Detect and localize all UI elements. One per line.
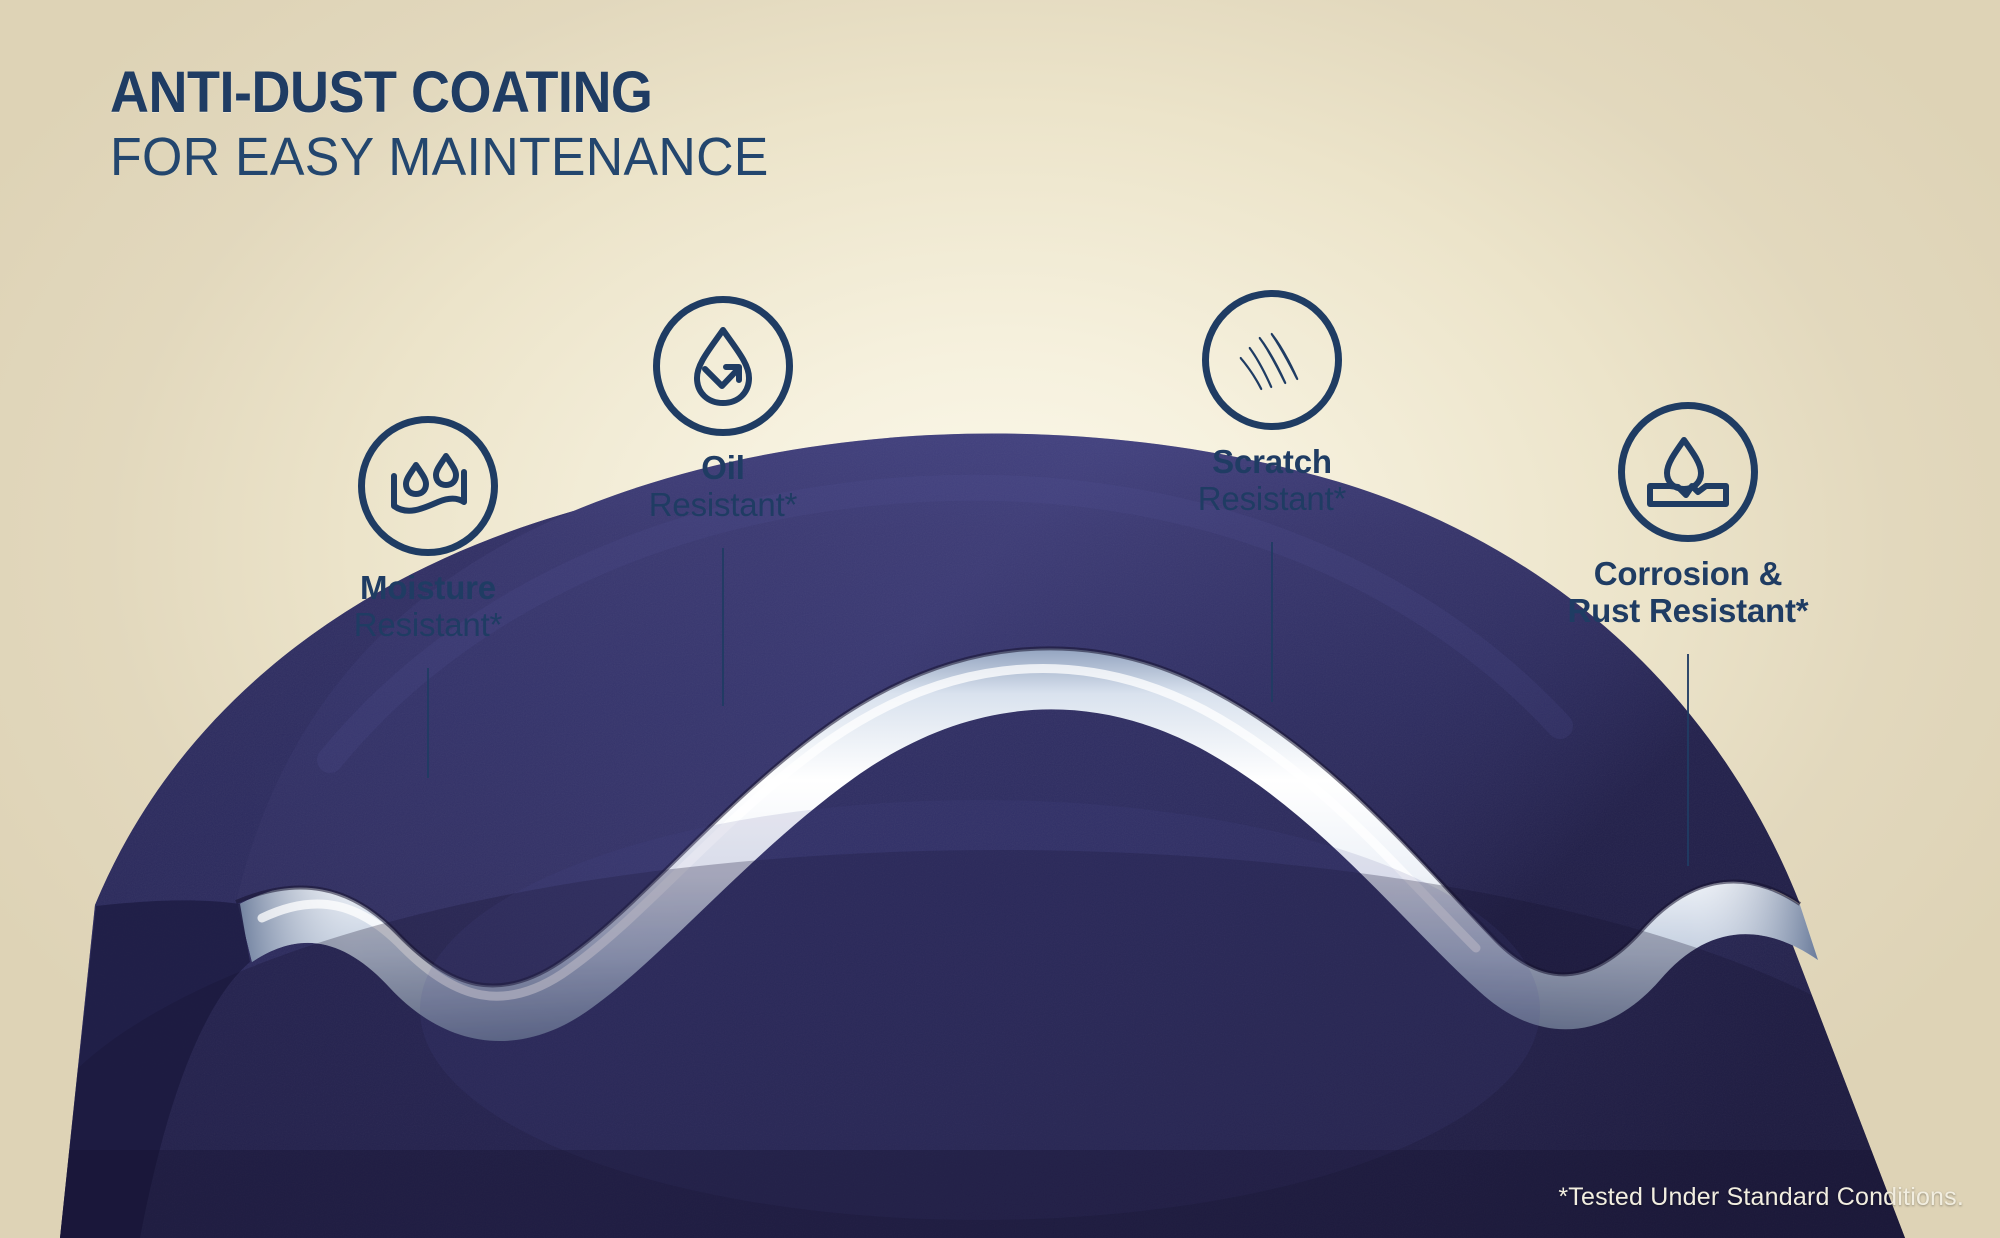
feature-oil-resistant: Oil Resistant*	[578, 296, 868, 524]
scratch-label-line-2: Resistant*	[1122, 481, 1422, 518]
scratch-leader-line	[1271, 542, 1273, 702]
oil-label: Oil Resistant*	[578, 450, 868, 524]
scratch-label-line-1: Scratch	[1122, 444, 1422, 481]
oil-label-line-2: Resistant*	[578, 487, 868, 524]
infographic-canvas: ANTI-DUST COATING FOR EASY MAINTENANCE M…	[0, 0, 2000, 1238]
footnote-disclaimer: *Tested Under Standard Conditions.	[1558, 1183, 1964, 1212]
corrosion-leader-line	[1687, 654, 1689, 866]
water-droplets-on-surface-icon	[380, 438, 476, 534]
scratch-marks-icon	[1226, 314, 1318, 406]
droplet-on-corroded-metal-icon	[1640, 424, 1736, 520]
oil-leader-line	[722, 548, 724, 706]
moisture-label-line-1: Moisture	[278, 570, 578, 607]
corrosion-label-line-1: Corrosion &	[1508, 556, 1868, 593]
oil-droplet-repel-arrow-icon	[677, 320, 769, 412]
feature-scratch-resistant: Scratch Resistant*	[1122, 290, 1422, 518]
moisture-label: Moisture Resistant*	[278, 570, 578, 644]
corrosion-label-line-2: Rust Resistant*	[1508, 593, 1868, 630]
headline-block: ANTI-DUST COATING FOR EASY MAINTENANCE	[110, 64, 796, 186]
corrosion-icon-ring	[1618, 402, 1758, 542]
feature-corrosion-rust-resistant: Corrosion & Rust Resistant*	[1508, 402, 1868, 630]
headline-line-2: FOR EASY MAINTENANCE	[110, 128, 769, 186]
oil-icon-ring	[653, 296, 793, 436]
scratch-icon-ring	[1202, 290, 1342, 430]
corrosion-label: Corrosion & Rust Resistant*	[1508, 556, 1868, 630]
moisture-icon-ring	[358, 416, 498, 556]
feature-moisture-resistant: Moisture Resistant*	[278, 416, 578, 644]
moisture-leader-line	[427, 668, 429, 778]
scratch-label: Scratch Resistant*	[1122, 444, 1422, 518]
headline-line-1: ANTI-DUST COATING	[110, 64, 748, 122]
moisture-label-line-2: Resistant*	[278, 607, 578, 644]
oil-label-line-1: Oil	[578, 450, 868, 487]
